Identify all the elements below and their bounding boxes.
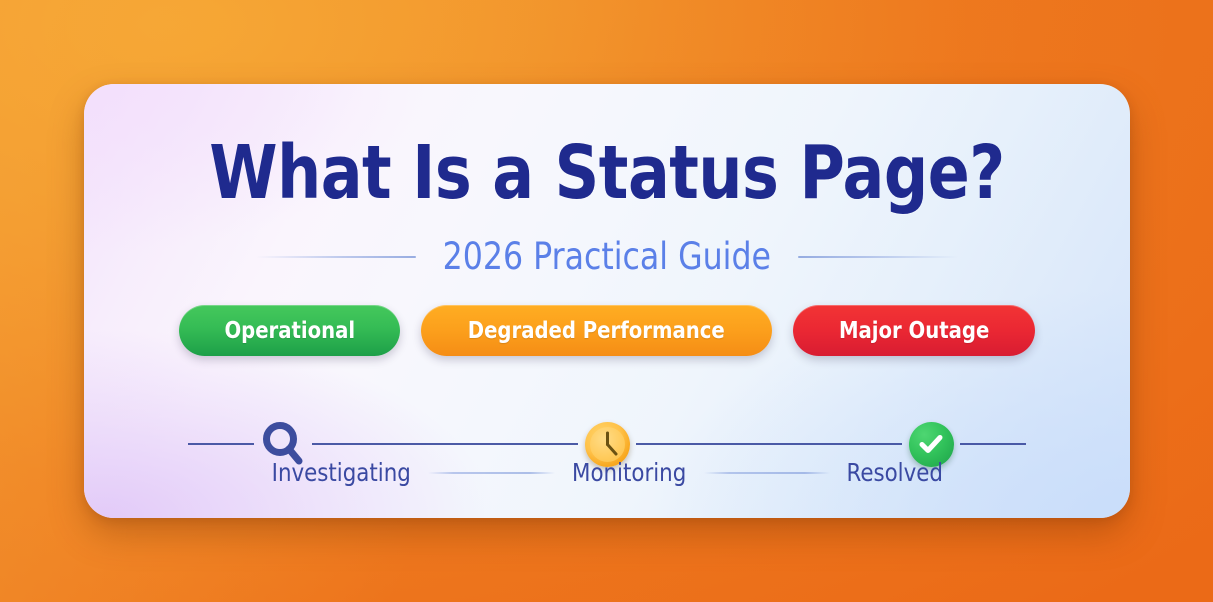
status-pill-major-outage[interactable]: Major Outage bbox=[793, 305, 1035, 356]
infographic-card: What Is a Status Page? 2026 Practical Gu… bbox=[84, 84, 1130, 518]
timeline-label-resolved: Resolved bbox=[844, 458, 946, 487]
timeline-label-investigating-text: Investigating bbox=[272, 458, 411, 487]
timeline-label-investigating: Investigating bbox=[268, 458, 414, 487]
incident-timeline: Investigating Monitoring Resolved bbox=[188, 384, 1026, 494]
status-pill-major-outage-label: Major Outage bbox=[839, 318, 989, 344]
status-pill-operational[interactable]: Operational bbox=[179, 305, 401, 356]
status-pill-operational-label: Operational bbox=[224, 318, 355, 344]
status-pill-degraded-performance[interactable]: Degraded Performance bbox=[421, 305, 771, 356]
page-title: What Is a Status Page? bbox=[121, 136, 1094, 210]
subtitle-rule-left bbox=[256, 256, 416, 258]
timeline-label-rule-2 bbox=[704, 472, 831, 474]
timeline-connector-1 bbox=[312, 443, 578, 445]
status-pill-degraded-performance-label: Degraded Performance bbox=[468, 318, 725, 344]
timeline-connector-end bbox=[960, 443, 1026, 445]
page-subtitle: 2026 Practical Guide bbox=[443, 235, 771, 278]
subtitle-rule-right bbox=[798, 256, 958, 258]
timeline-connector-start bbox=[188, 443, 254, 445]
timeline-label-resolved-text: Resolved bbox=[847, 458, 943, 487]
timeline-node-monitoring[interactable] bbox=[578, 415, 636, 473]
timeline-connector-2 bbox=[636, 443, 902, 445]
clock-icon bbox=[585, 422, 630, 467]
timeline-label-spacer-start bbox=[202, 472, 254, 474]
subtitle-row: 2026 Practical Guide bbox=[84, 235, 1130, 278]
timeline-label-rule-1 bbox=[428, 472, 555, 474]
status-pill-group: Operational Degraded Performance Major O… bbox=[84, 305, 1130, 356]
timeline-label-spacer-end bbox=[960, 472, 1012, 474]
